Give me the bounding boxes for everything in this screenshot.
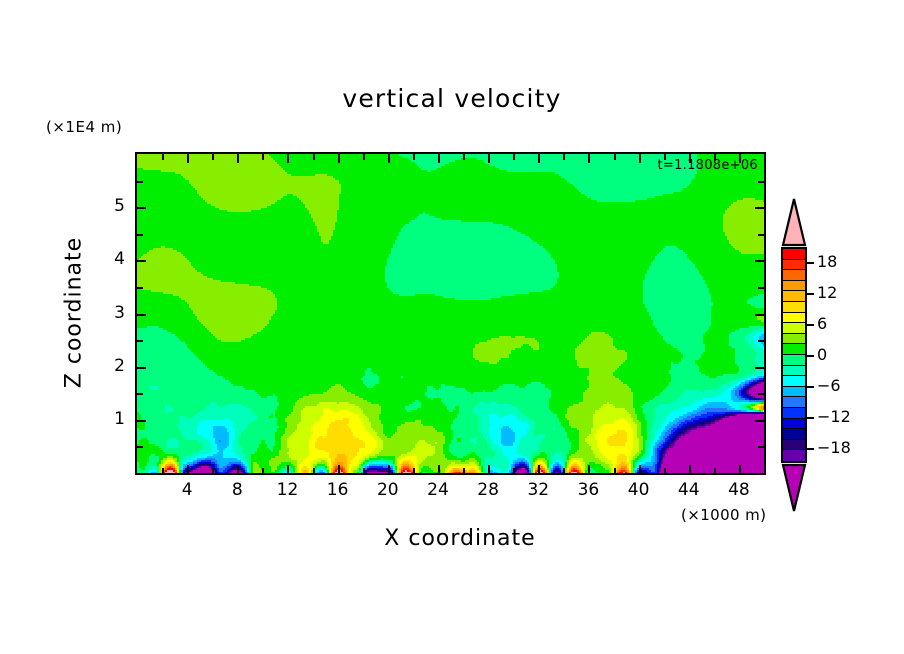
colorbar <box>781 247 807 463</box>
y-tick <box>137 260 146 262</box>
x-minor-tick <box>162 468 164 474</box>
x-tick <box>488 465 490 474</box>
x-tick-top <box>438 154 440 163</box>
colorbar-tick <box>807 417 814 419</box>
y-minor-tick <box>758 340 764 342</box>
y-minor-tick <box>758 181 764 183</box>
figure-canvas: vertical velocity (×1E4 m) Z coordinate … <box>0 0 904 654</box>
colorbar-under-arrow <box>781 463 807 513</box>
x-minor-tick <box>262 468 264 474</box>
colorbar-band <box>783 260 805 271</box>
colorbar-band <box>783 355 805 366</box>
x-tick <box>438 465 440 474</box>
colorbar-tick <box>807 448 814 450</box>
colorbar-band <box>783 344 805 355</box>
x-minor-tick <box>262 154 264 160</box>
colorbar-band <box>783 408 805 419</box>
x-minor-tick <box>764 154 766 160</box>
x-tick-label: 44 <box>669 480 709 500</box>
colorbar-band <box>783 397 805 408</box>
y-minor-tick <box>758 446 764 448</box>
x-minor-tick <box>413 468 415 474</box>
x-tick-top <box>237 154 239 163</box>
x-tick <box>639 465 641 474</box>
y-minor-tick <box>137 181 143 183</box>
colorbar-band <box>783 334 805 345</box>
x-tick-top <box>588 154 590 163</box>
colorbar-band <box>783 429 805 440</box>
colorbar-tick-label: 6 <box>817 314 827 333</box>
x-tick <box>187 465 189 474</box>
y-minor-tick <box>137 287 143 289</box>
x-axis-unit-label: (×1000 m) <box>681 506 766 524</box>
x-minor-tick <box>513 154 515 160</box>
x-tick <box>388 465 390 474</box>
contour-plot-area: t=1.1808e+06 <box>135 152 766 475</box>
y-tick <box>755 314 764 316</box>
contour-field <box>137 154 764 473</box>
y-tick <box>137 314 146 316</box>
x-minor-tick <box>513 468 515 474</box>
y-minor-tick <box>137 234 143 236</box>
colorbar-band <box>783 313 805 324</box>
colorbar-band <box>783 291 805 302</box>
y-tick <box>755 207 764 209</box>
colorbar-band <box>783 281 805 292</box>
colorbar-band <box>783 366 805 377</box>
colorbar-tick <box>807 386 814 388</box>
x-minor-tick <box>764 468 766 474</box>
y-tick <box>755 260 764 262</box>
y-tick-label: 1 <box>103 409 125 429</box>
timestamp-annotation: t=1.1808e+06 <box>657 158 758 173</box>
x-tick <box>588 465 590 474</box>
x-tick <box>538 465 540 474</box>
x-tick-top <box>488 154 490 163</box>
colorbar-band <box>783 249 805 260</box>
x-minor-tick <box>563 468 565 474</box>
y-minor-tick <box>758 287 764 289</box>
y-tick <box>137 207 146 209</box>
x-minor-tick <box>162 154 164 160</box>
x-minor-tick <box>212 468 214 474</box>
y-tick <box>755 367 764 369</box>
y-minor-tick <box>758 393 764 395</box>
x-minor-tick <box>313 154 315 160</box>
x-tick <box>237 465 239 474</box>
x-tick-label: 16 <box>318 480 358 500</box>
x-minor-tick <box>413 154 415 160</box>
y-tick-label: 3 <box>103 303 125 323</box>
colorbar-band <box>783 270 805 281</box>
y-tick <box>137 420 146 422</box>
y-tick <box>137 367 146 369</box>
colorbar-tick-label: 12 <box>817 283 837 302</box>
x-tick-label: 36 <box>568 480 608 500</box>
y-minor-tick <box>137 340 143 342</box>
y-minor-tick <box>137 393 143 395</box>
y-tick-label: 5 <box>103 196 125 216</box>
colorbar-band <box>783 440 805 451</box>
x-tick-label: 28 <box>468 480 508 500</box>
colorbar-tick-label: 18 <box>817 252 837 271</box>
x-tick-label: 24 <box>418 480 458 500</box>
colorbar-band <box>783 450 805 461</box>
colorbar-band <box>783 419 805 430</box>
x-tick-top <box>338 154 340 163</box>
y-axis-label: Z coordinate <box>62 213 87 413</box>
y-minor-tick <box>137 446 143 448</box>
colorbar-tick-label: −12 <box>817 407 851 426</box>
x-tick-label: 48 <box>719 480 759 500</box>
x-minor-tick <box>463 468 465 474</box>
x-minor-tick <box>714 468 716 474</box>
x-tick-top <box>187 154 189 163</box>
x-tick <box>689 465 691 474</box>
colorbar-band <box>783 387 805 398</box>
x-minor-tick <box>313 468 315 474</box>
colorbar-tick-label: 0 <box>817 345 827 364</box>
x-tick-label: 4 <box>167 480 207 500</box>
x-axis-label: X coordinate <box>235 526 685 551</box>
x-tick-top <box>639 154 641 163</box>
colorbar-band <box>783 302 805 313</box>
y-minor-tick <box>758 234 764 236</box>
y-tick <box>755 420 764 422</box>
y-tick-label: 2 <box>103 356 125 376</box>
colorbar-tick <box>807 293 814 295</box>
x-tick-label: 20 <box>368 480 408 500</box>
x-minor-tick <box>463 154 465 160</box>
x-tick-top <box>538 154 540 163</box>
x-tick-top <box>388 154 390 163</box>
x-minor-tick <box>614 154 616 160</box>
x-tick-label: 12 <box>267 480 307 500</box>
x-minor-tick <box>563 154 565 160</box>
colorbar-tick <box>807 324 814 326</box>
x-tick <box>287 465 289 474</box>
x-tick-top <box>287 154 289 163</box>
colorbar-band <box>783 376 805 387</box>
y-tick-label: 4 <box>103 249 125 269</box>
x-tick-label: 32 <box>518 480 558 500</box>
x-tick <box>338 465 340 474</box>
x-tick <box>739 465 741 474</box>
colorbar-tick-label: −6 <box>817 376 841 395</box>
y-axis-unit-label: (×1E4 m) <box>46 118 122 136</box>
x-minor-tick <box>664 468 666 474</box>
colorbar-tick <box>807 355 814 357</box>
x-minor-tick <box>212 154 214 160</box>
x-minor-tick <box>614 468 616 474</box>
x-minor-tick <box>363 468 365 474</box>
chart-title: vertical velocity <box>0 84 904 113</box>
colorbar-band <box>783 323 805 334</box>
x-minor-tick <box>363 154 365 160</box>
colorbar-over-arrow <box>781 197 807 247</box>
colorbar-tick-label: −18 <box>817 438 851 457</box>
colorbar-tick <box>807 262 814 264</box>
x-tick-label: 40 <box>619 480 659 500</box>
x-tick-label: 8 <box>217 480 257 500</box>
